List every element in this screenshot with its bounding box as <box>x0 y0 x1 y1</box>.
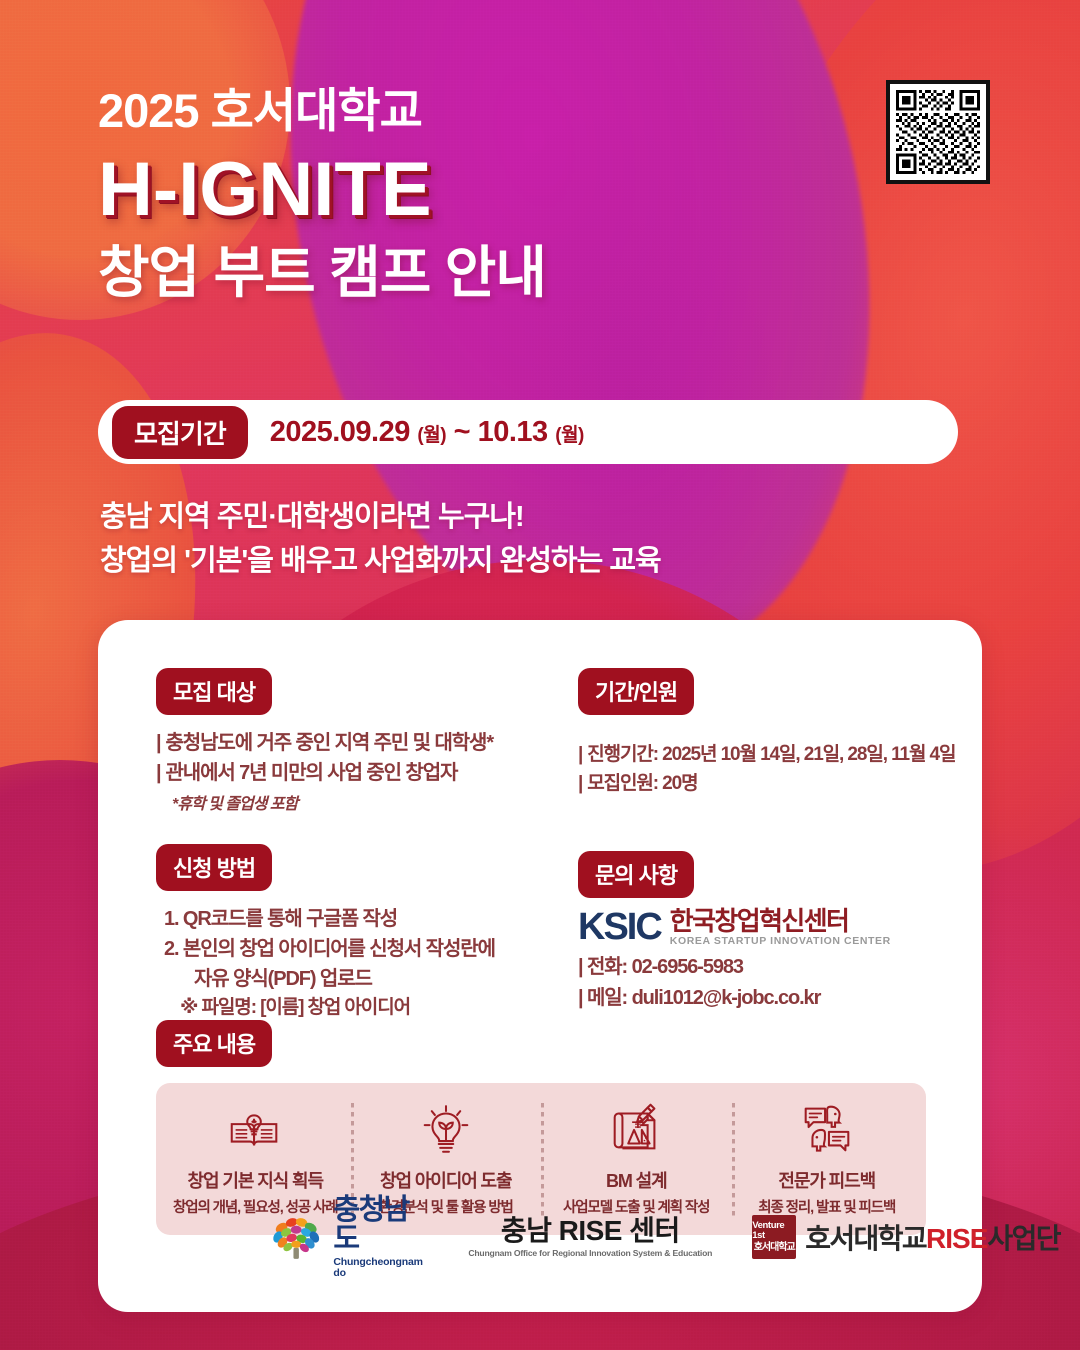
start-date: 2025.09.29 <box>270 416 410 448</box>
section-curriculum-tag: 주요 내용 <box>156 1020 272 1067</box>
section-contact: 문의 사항 KSIC 한국창업혁신센터 KOREA STARTUP INNOVA… <box>578 851 948 1013</box>
section-period-list: |진행기간: 2025년 10월 14일, 21일, 28일, 11월 4일 |… <box>578 741 948 799</box>
page-title: H-IGNITE <box>98 149 958 231</box>
feature-title: BM 설계 <box>606 1167 667 1193</box>
list-item: 2. 본인의 창업 아이디어를 신청서 작성란에 <box>156 934 556 964</box>
section-apply-steps: 1. QR코드를 통해 구글폼 작성 2. 본인의 창업 아이디어를 신청서 작… <box>156 904 556 1023</box>
qr-code[interactable] <box>886 80 990 184</box>
poster-root: 2025 호서대학교 H-IGNITE 창업 부트 캠프 안내 모집기간 202… <box>0 0 1080 1350</box>
section-apply-memo: ※ 파일명: [이름] 창업 아이디어 <box>156 994 556 1023</box>
section-period-tag: 기간/인원 <box>578 668 694 715</box>
feature-title: 창업 기본 지식 획득 <box>188 1167 323 1193</box>
section-target-note: *휴학 및 졸업생 포함 <box>172 790 556 814</box>
section-period: 기간/인원 |진행기간: 2025년 10월 14일, 21일, 28일, 11… <box>578 668 948 799</box>
header-kicker: 2025 호서대학교 <box>98 86 958 135</box>
section-apply: 신청 방법 1. QR코드를 통해 구글폼 작성 2. 본인의 창업 아이디어를… <box>156 844 556 1023</box>
section-target-tag: 모집 대상 <box>156 668 272 715</box>
book-lightbulb-icon <box>224 1097 286 1159</box>
hoseo-rise-logo: Venture 1st 호서대학교 호서대학교RISE사업단 <box>752 1215 1060 1259</box>
chungcheongnam-do-text: 충청남도 Chungcheongnam do <box>333 1196 428 1278</box>
recruitment-period-tag: 모집기간 <box>112 406 248 459</box>
section-target: 모집 대상 |충청남도에 거주 중인 지역 주민 및 대학생* |관내에서 7년… <box>156 668 556 814</box>
list-item: |진행기간: 2025년 10월 14일, 21일, 28일, 11월 4일 <box>578 741 948 770</box>
end-day: (월) <box>555 425 584 446</box>
start-day: (월) <box>417 425 446 446</box>
ksic-korean-name: 한국창업혁신센터 KOREA STARTUP INNOVATION CENTER <box>670 908 891 947</box>
list-item: |모집인원: 20명 <box>578 770 948 799</box>
blueprint-pencil-icon <box>605 1097 667 1159</box>
info-card: 모집 대상 |충청남도에 거주 중인 지역 주민 및 대학생* |관내에서 7년… <box>98 620 982 1312</box>
chungnam-rise-center-text: 충남 RISE 센터 Chungnam Office for Regional … <box>468 1217 712 1258</box>
list-item: |관내에서 7년 미만의 사업 중인 창업자 <box>156 758 556 788</box>
ksic-wordmark: KSIC <box>578 908 661 946</box>
hoseo-rise-text: 호서대학교RISE사업단 <box>805 1217 1060 1257</box>
info-card-left-column: 모집 대상 |충청남도에 거주 중인 지역 주민 및 대학생* |관내에서 7년… <box>156 668 556 1022</box>
recruitment-period-bar: 모집기간 2025.09.29 (월) ~ 10.13 (월) <box>98 400 958 464</box>
speech-feedback-icon <box>796 1097 858 1159</box>
list-item: |충청남도에 거주 중인 지역 주민 및 대학생* <box>156 728 556 758</box>
feature-title: 전문가 피드백 <box>778 1167 875 1193</box>
date-separator: ~ <box>454 416 470 448</box>
section-apply-tag: 신청 방법 <box>156 844 272 891</box>
lead-line-1: 충남 지역 주민·대학생이라면 누구나! <box>100 495 661 539</box>
end-date: 10.13 <box>478 416 548 448</box>
poster-header: 2025 호서대학교 H-IGNITE 창업 부트 캠프 안내 <box>98 86 958 305</box>
chungcheongnam-do-logo: 충청남도 Chungcheongnam do <box>268 1196 428 1278</box>
footer-logos: 충청남도 Chungcheongnam do 충남 RISE 센터 Chungn… <box>168 1196 978 1278</box>
list-item: 자유 양식(PDF) 업로드 <box>156 964 556 994</box>
header-subtitle: 창업 부트 캠프 안내 <box>98 241 958 305</box>
contact-email[interactable]: | 메일: duli1012@k-jobc.co.kr <box>578 983 948 1013</box>
colorful-tree-icon <box>268 1211 324 1263</box>
hoseo-venture-badge: Venture 1st 호서대학교 <box>752 1215 796 1259</box>
contact-phone: | 전화: 02-6956-5983 <box>578 952 948 982</box>
chungnam-rise-center-logo: 충남 RISE 센터 Chungnam Office for Regional … <box>468 1217 712 1258</box>
list-item: 1. QR코드를 통해 구글폼 작성 <box>156 904 556 934</box>
lead-copy: 충남 지역 주민·대학생이라면 누구나! 창업의 '기본'을 배우고 사업화까지… <box>100 495 661 583</box>
info-card-right-column: 기간/인원 |진행기간: 2025년 10월 14일, 21일, 28일, 11… <box>578 668 948 1013</box>
section-contact-tag: 문의 사항 <box>578 851 694 898</box>
recruitment-period-value: 2025.09.29 (월) ~ 10.13 (월) <box>270 416 584 449</box>
ksic-logo: KSIC 한국창업혁신센터 KOREA STARTUP INNOVATION C… <box>578 908 948 947</box>
section-target-list: |충청남도에 거주 중인 지역 주민 및 대학생* |관내에서 7년 미만의 사… <box>156 728 556 814</box>
lightbulb-sprout-icon <box>415 1097 477 1159</box>
feature-title: 창업 아이디어 도출 <box>380 1167 511 1193</box>
section-contact-list: | 전화: 02-6956-5983 | 메일: duli1012@k-jobc… <box>578 952 948 1013</box>
lead-line-2: 창업의 '기본'을 배우고 사업화까지 완성하는 교육 <box>100 539 661 583</box>
